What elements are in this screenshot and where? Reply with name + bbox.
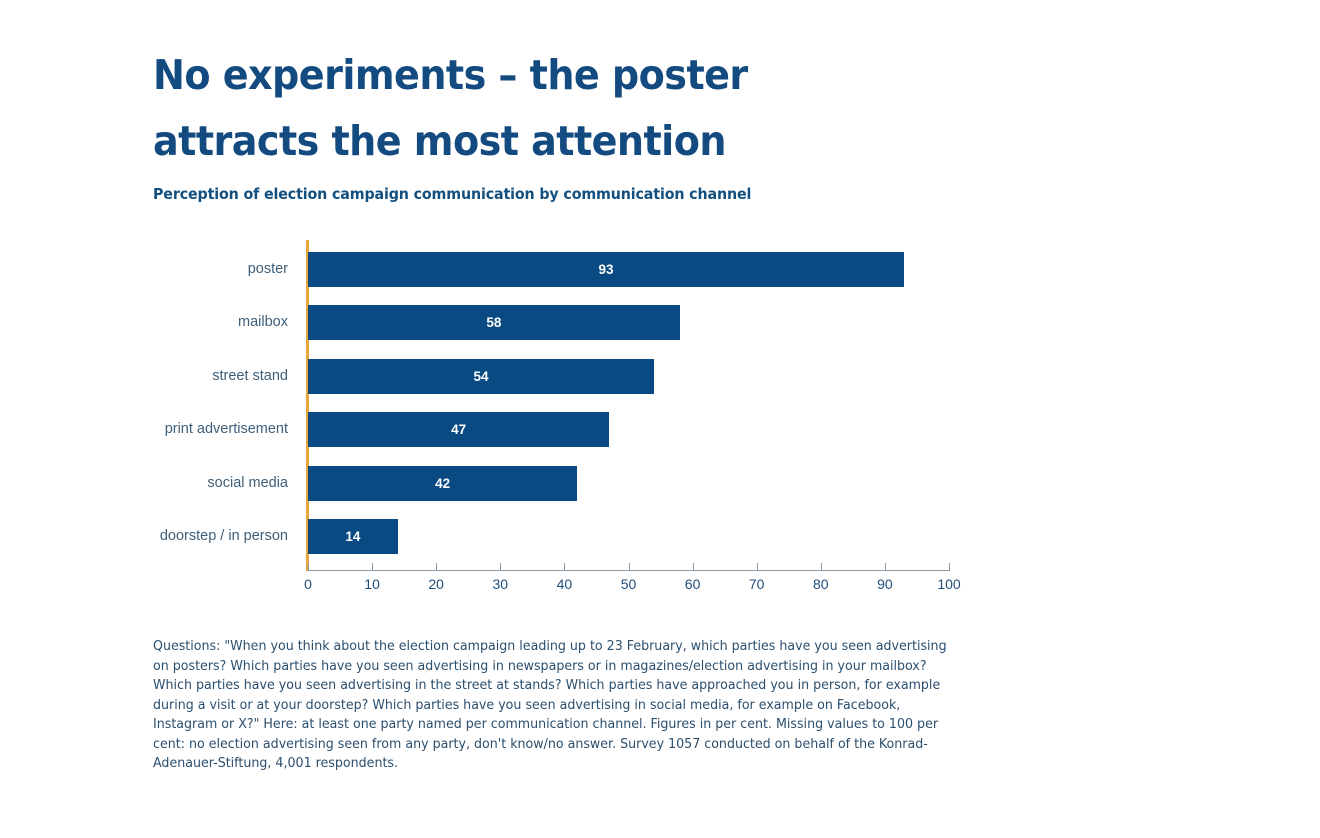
x-axis-tick — [757, 563, 758, 571]
bar-row: social media42 — [0, 466, 1320, 501]
bar-value-label: 14 — [308, 519, 398, 554]
x-axis-tick-label: 30 — [493, 576, 509, 592]
x-axis-tick-label: 100 — [937, 576, 960, 592]
x-axis-tick — [500, 563, 501, 571]
footnote-text: Questions: "When you think about the ele… — [153, 637, 962, 774]
category-label: street stand — [0, 359, 288, 394]
x-axis-tick — [821, 563, 822, 571]
category-label: doorstep / in person — [0, 519, 288, 554]
x-axis-tick — [885, 563, 886, 571]
bar-value-label: 58 — [308, 305, 680, 340]
bar-row: mailbox58 — [0, 305, 1320, 340]
x-axis-tick-label: 60 — [685, 576, 701, 592]
x-axis-tick-label: 0 — [304, 576, 312, 592]
x-axis-tick-label: 10 — [364, 576, 380, 592]
bar-value-label: 93 — [308, 252, 904, 287]
category-label: social media — [0, 466, 288, 501]
category-label: mailbox — [0, 305, 288, 340]
x-axis-tick-label: 40 — [557, 576, 573, 592]
bar-value-label: 54 — [308, 359, 654, 394]
x-axis-tick — [436, 563, 437, 571]
bar-row: print advertisement47 — [0, 412, 1320, 447]
bar-row: doorstep / in person14 — [0, 519, 1320, 554]
bar-row: street stand54 — [0, 359, 1320, 394]
bar-row: poster93 — [0, 252, 1320, 287]
x-axis-tick-label: 80 — [813, 576, 829, 592]
x-axis-tick — [308, 563, 309, 571]
category-label: poster — [0, 252, 288, 287]
chart-page: No experiments – the poster attracts the… — [0, 0, 1320, 838]
bar-value-label: 42 — [308, 466, 577, 501]
x-axis-tick-label: 90 — [877, 576, 893, 592]
x-axis-tick-label: 20 — [428, 576, 444, 592]
x-axis-tick — [372, 563, 373, 571]
x-axis-tick — [949, 563, 950, 571]
x-axis-tick-label: 50 — [621, 576, 637, 592]
bar-value-label: 47 — [308, 412, 609, 447]
x-axis-tick — [693, 563, 694, 571]
x-axis-tick — [564, 563, 565, 571]
category-label: print advertisement — [0, 412, 288, 447]
x-axis-tick-label: 70 — [749, 576, 765, 592]
x-axis-tick — [629, 563, 630, 571]
